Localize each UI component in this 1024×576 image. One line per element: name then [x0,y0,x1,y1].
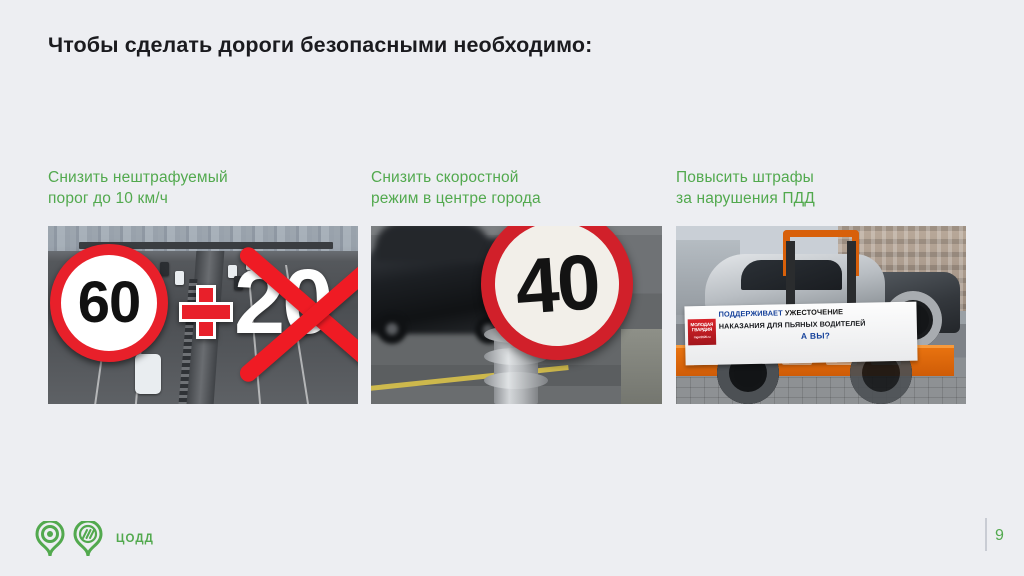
highway-scene: 60 20 [48,226,358,404]
column-3-caption: Повысить штрафы за нарушения ПДД [676,168,966,209]
car-wheel [377,314,407,344]
street-scene: МОЛОДАЯ ГВАРДИЯ mger2020.ru ПОДДЕРЖИВАЕТ… [676,226,966,404]
column-1-caption: Снизить нештрафуемый порог до 10 км/ч [48,168,358,209]
tow-lift-arm [783,230,858,276]
column-3: Повысить штрафы за нарушения ПДД [676,168,966,209]
banner-line-1-black: УЖЕСТОЧЕНИЕ [785,307,843,317]
highway-speed-threshold-photo: 60 20 [48,226,358,404]
column-2-caption: Снизить скоростной режим в центре города [371,168,662,209]
page-title: Чтобы сделать дороги безопасными необход… [48,33,592,58]
banner-line-1-blue: ПОДДЕРЖИВАЕТ [718,309,782,319]
cedd-spiral-pin-logo [34,521,66,557]
sidewalk [621,329,662,404]
road-scene: 40 [371,226,662,404]
footer-divider [985,518,987,551]
traffic-car [175,271,184,285]
column-2: Снизить скоростной режим в центре города [371,168,662,209]
banner-line-1: ПОДДЕРЖИВАЕТ УЖЕСТОЧЕНИЕ [718,306,911,319]
red-cross-out-icon [224,232,358,396]
protest-banner: МОЛОДАЯ ГВАРДИЯ mger2020.ru ПОДДЕРЖИВАЕТ… [684,302,917,366]
slide-root: Чтобы сделать дороги безопасными необход… [0,0,1024,576]
banner-line-3: А ВЫ? [719,329,912,343]
speed-limit-40-photo: 40 [371,226,662,404]
foreground-car [135,354,161,394]
brand-label: ЦОДД [116,533,154,545]
banner-logo-url: mger2020.ru [689,336,715,340]
speed-sign-60-value: 60 [78,274,141,332]
speed-sign-60: 60 [50,244,168,362]
tow-truck-banner-photo: МОЛОДАЯ ГВАРДИЯ mger2020.ru ПОДДЕРЖИВАЕТ… [676,226,966,404]
traffic-car [160,262,169,276]
speed-sign-40-value: 40 [513,242,601,326]
post-ring [484,372,548,389]
column-1: Снизить нештрафуемый порог до 10 км/ч [48,168,358,209]
banner-logo: МОЛОДАЯ ГВАРДИЯ mger2020.ru [687,319,716,346]
cedd-slashes-pin-logo [72,521,104,557]
page-number: 9 [995,527,1004,545]
banner-logo-text: МОЛОДАЯ ГВАРДИЯ [690,322,713,333]
footer-logo-group: ЦОДД [34,521,154,557]
